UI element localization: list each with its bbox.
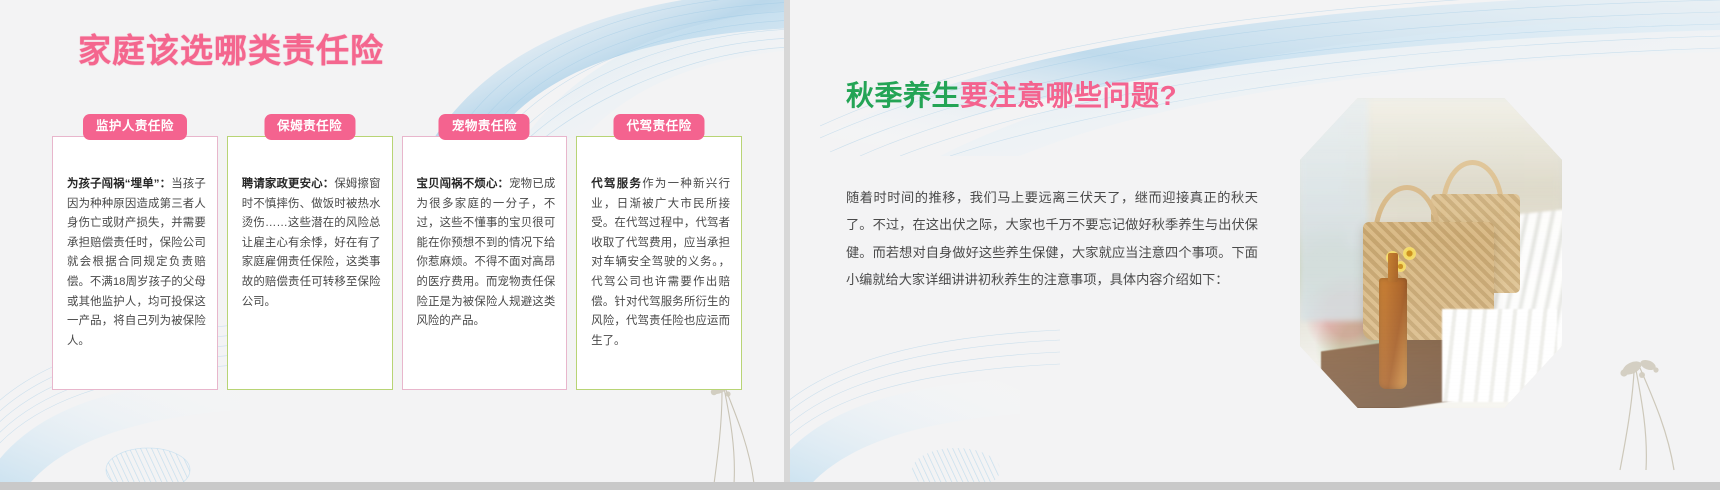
dried-flower-sprig-right-icon [1598, 352, 1708, 472]
liability-cards-row: 监护人责任险 为孩子闯祸“埋单”：当孩子因为种种原因造成第三者人身伤亡或财产损失… [52, 136, 742, 390]
slide-right[interactable]: 秋季养生要注意哪些问题? 随着时时间的推移，我们马上要远离三伏天了，继而迎接真正… [790, 0, 1720, 482]
dried-flower-sprig-icon [690, 376, 780, 482]
picnic-basket-photo [1300, 98, 1562, 408]
card-badge-nanny: 保姆责任险 [264, 114, 355, 140]
photo-soft-light-overlay [1300, 98, 1562, 408]
card-guardian-liability[interactable]: 监护人责任险 为孩子闯祸“埋单”：当孩子因为种种原因造成第三者人身伤亡或财产损失… [52, 136, 218, 390]
slide-deck-canvas: 家庭该选哪类责任险 监护人责任险 为孩子闯祸“埋单”：当孩子因为种种原因造成第三… [0, 0, 1720, 490]
card-nanny-liability[interactable]: 保姆责任险 聘请家政更安心：保姆擦窗时不慎摔伤、做饭时被热水烫伤……这些潜在的风… [227, 136, 393, 390]
card-badge-guardian: 监护人责任险 [83, 114, 187, 140]
card-text-nanny: 保姆擦窗时不慎摔伤、做饭时被热水烫伤……这些潜在的风险总让雇主心有余悸，好在有了… [242, 178, 381, 308]
card-body-pet: 宝贝闯祸不烦心：宠物已成为很多家庭的一分子，不过，这些不懂事的宝贝很可能在你预想… [417, 175, 556, 332]
card-badge-pet: 宠物责任险 [439, 114, 530, 140]
card-body-guardian: 为孩子闯祸“埋单”：当孩子因为种种原因造成第三者人身伤亡或财产损失，并需要承担赔… [67, 175, 206, 351]
card-text-guardian: 当孩子因为种种原因造成第三者人身伤亡或财产损失，并需要承担赔偿责任时，保险公司就… [67, 178, 206, 347]
card-lead-nanny: 聘请家政更安心： [242, 178, 335, 190]
card-text-designated-driver: 作为一种新兴行业，日渐被广大市民所接受。在代驾过程中，代驾者收取了代驾费用，应当… [591, 178, 730, 347]
left-slide-title: 家庭该选哪类责任险 [78, 24, 384, 72]
canvas-bottom-strip [0, 482, 1720, 490]
right-title-green-part: 秋季养生 [846, 80, 960, 111]
slide-left[interactable]: 家庭该选哪类责任险 监护人责任险 为孩子闯祸“埋单”：当孩子因为种种原因造成第三… [0, 0, 784, 482]
card-lead-pet: 宝贝闯祸不烦心： [417, 178, 510, 190]
right-title-pink-part: 要注意哪些问题? [960, 80, 1177, 111]
right-slide-paragraph: 随着时时间的推移，我们马上要远离三伏天了，继而迎接真正的秋天了。不过，在这出伏之… [846, 184, 1258, 294]
card-body-nanny: 聘请家政更安心：保姆擦窗时不慎摔伤、做饭时被热水烫伤……这些潜在的风险总让雇主心… [242, 175, 381, 312]
card-pet-liability[interactable]: 宠物责任险 宝贝闯祸不烦心：宠物已成为很多家庭的一分子，不过，这些不懂事的宝贝很… [402, 136, 568, 390]
card-lead-designated-driver: 代驾服务 [591, 178, 642, 190]
ribbon-decoration-top [374, 0, 784, 138]
card-text-pet: 宠物已成为很多家庭的一分子，不过，这些不懂事的宝贝很可能在你预想不到的情况下给你… [417, 178, 556, 327]
card-designated-driver-liability[interactable]: 代驾责任险 代驾服务作为一种新兴行业，日渐被广大市民所接受。在代驾过程中，代驾者… [576, 136, 742, 390]
card-lead-guardian: 为孩子闯祸“埋单”： [67, 178, 171, 190]
right-slide-title: 秋季养生要注意哪些问题? [846, 74, 1177, 114]
card-badge-designated-driver: 代驾责任险 [614, 114, 705, 140]
ribbon-decoration-bottom-right-slide [790, 320, 1060, 482]
card-body-designated-driver: 代驾服务作为一种新兴行业，日渐被广大市民所接受。在代驾过程中，代驾者收取了代驾费… [591, 175, 730, 351]
